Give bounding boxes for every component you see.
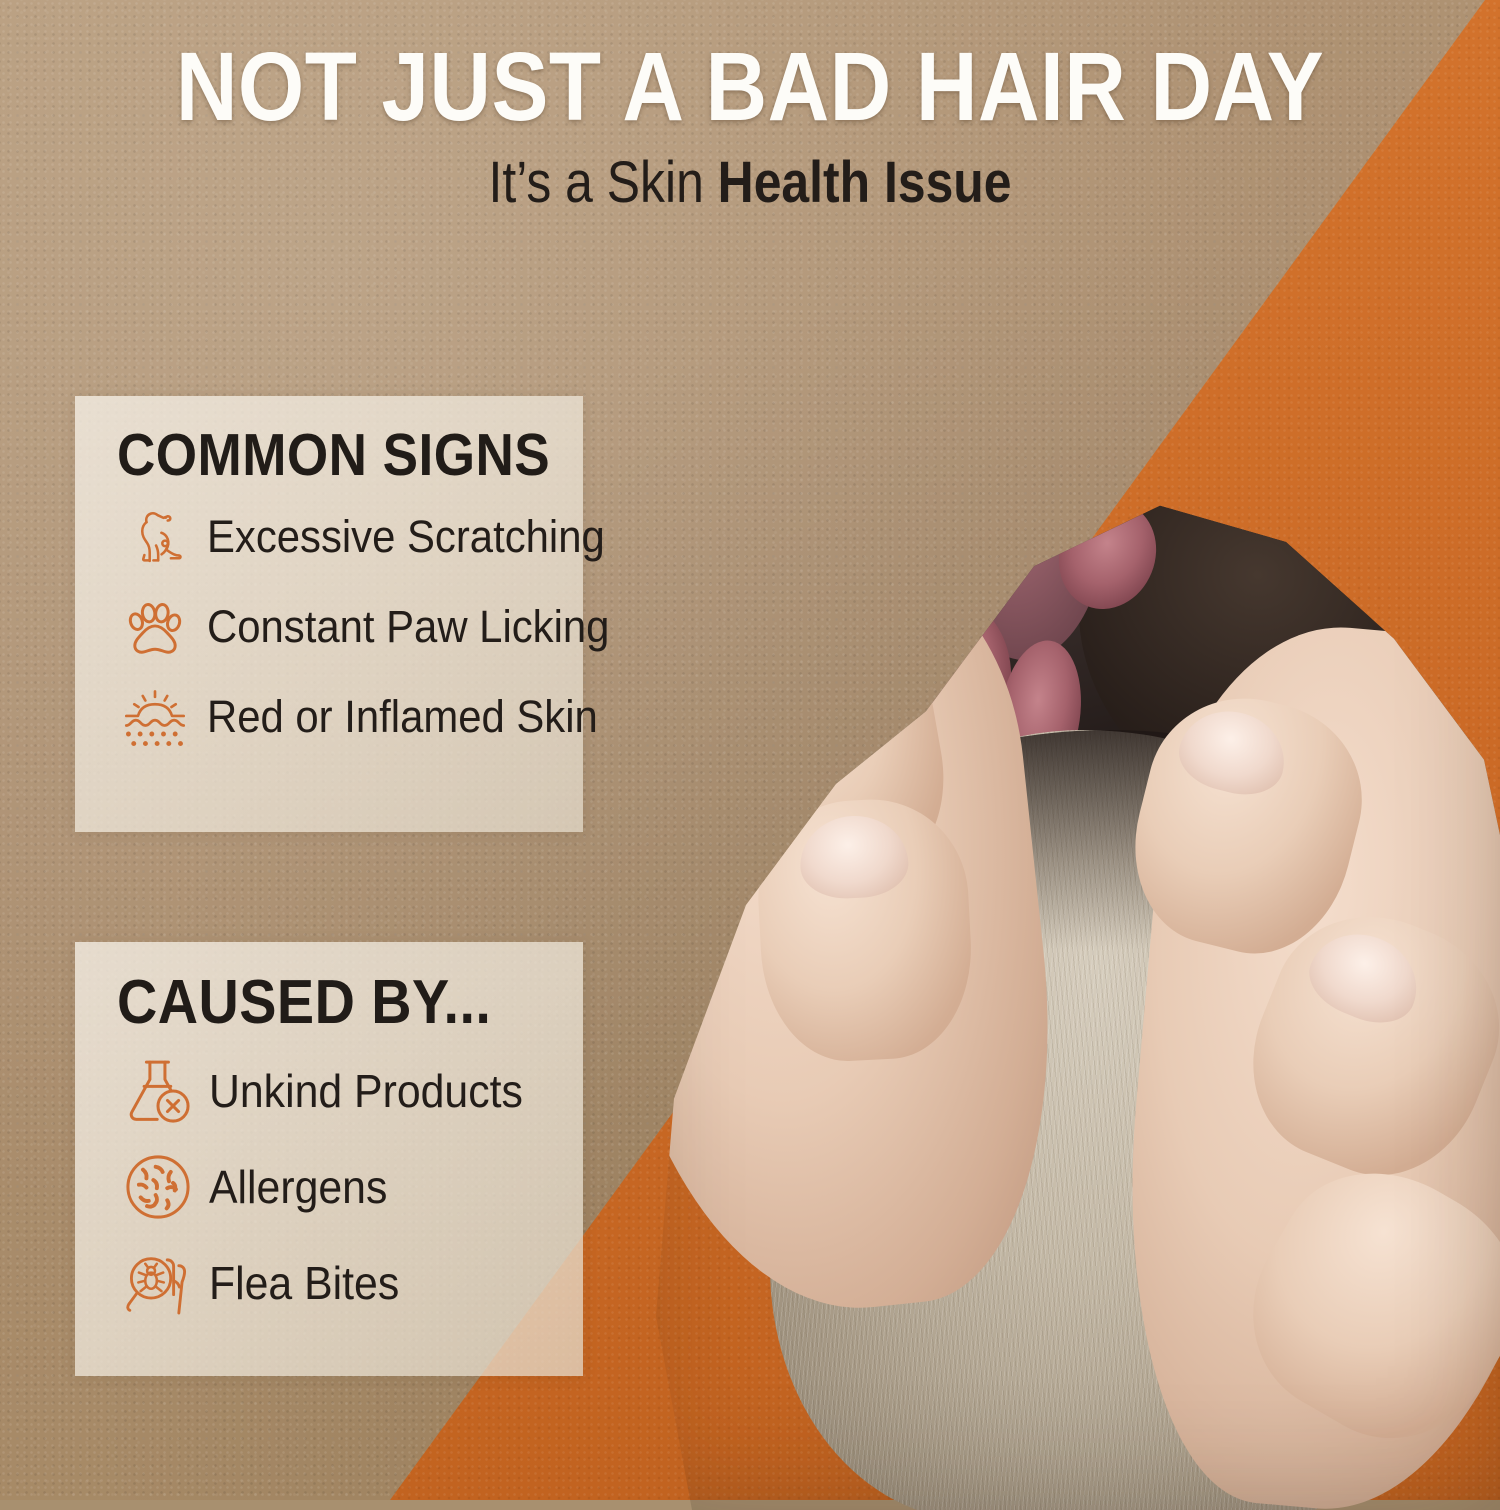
common-signs-title: COMMON SIGNS	[117, 426, 515, 485]
list-item: Flea Bites	[117, 1242, 559, 1324]
list-item-label: Red or Inflamed Skin	[207, 691, 598, 743]
flask-no-icon	[117, 1050, 199, 1132]
page-subtitle: It’s a Skin Health Issue	[105, 153, 1395, 214]
list-item-label: Allergens	[209, 1160, 387, 1214]
allergens-microbes-icon	[117, 1146, 199, 1228]
caused-by-card: CAUSED BY... Unkind Products	[75, 942, 583, 1376]
caused-by-list: Unkind Products	[117, 1050, 559, 1324]
list-item: Allergens	[117, 1146, 559, 1228]
paw-print-icon	[117, 589, 193, 665]
dog-scratching-icon	[117, 499, 193, 575]
list-item: Excessive Scratching	[117, 499, 559, 575]
list-item-label: Unkind Products	[209, 1064, 523, 1118]
list-item-label: Flea Bites	[209, 1256, 399, 1310]
list-item: Unkind Products	[117, 1050, 559, 1132]
list-item-label: Excessive Scratching	[207, 511, 605, 563]
subtitle-strong-part: Health Issue	[718, 150, 1012, 215]
header-block: NOT JUST A BAD HAIR DAY It’s a Skin Heal…	[0, 38, 1500, 214]
flea-magnifier-icon	[117, 1242, 199, 1324]
page-title: NOT JUST A BAD HAIR DAY	[90, 38, 1410, 137]
common-signs-list: Excessive Scratching Constant Paw Lickin…	[117, 499, 559, 755]
list-item: Red or Inflamed Skin	[117, 679, 559, 755]
list-item: Constant Paw Licking	[117, 589, 559, 665]
caused-by-title: CAUSED BY...	[117, 972, 515, 1034]
list-item-label: Constant Paw Licking	[207, 601, 609, 653]
inflamed-skin-icon	[117, 679, 193, 755]
subtitle-light-part: It’s a Skin	[488, 150, 717, 215]
common-signs-card: COMMON SIGNS Excessiv	[75, 396, 583, 832]
